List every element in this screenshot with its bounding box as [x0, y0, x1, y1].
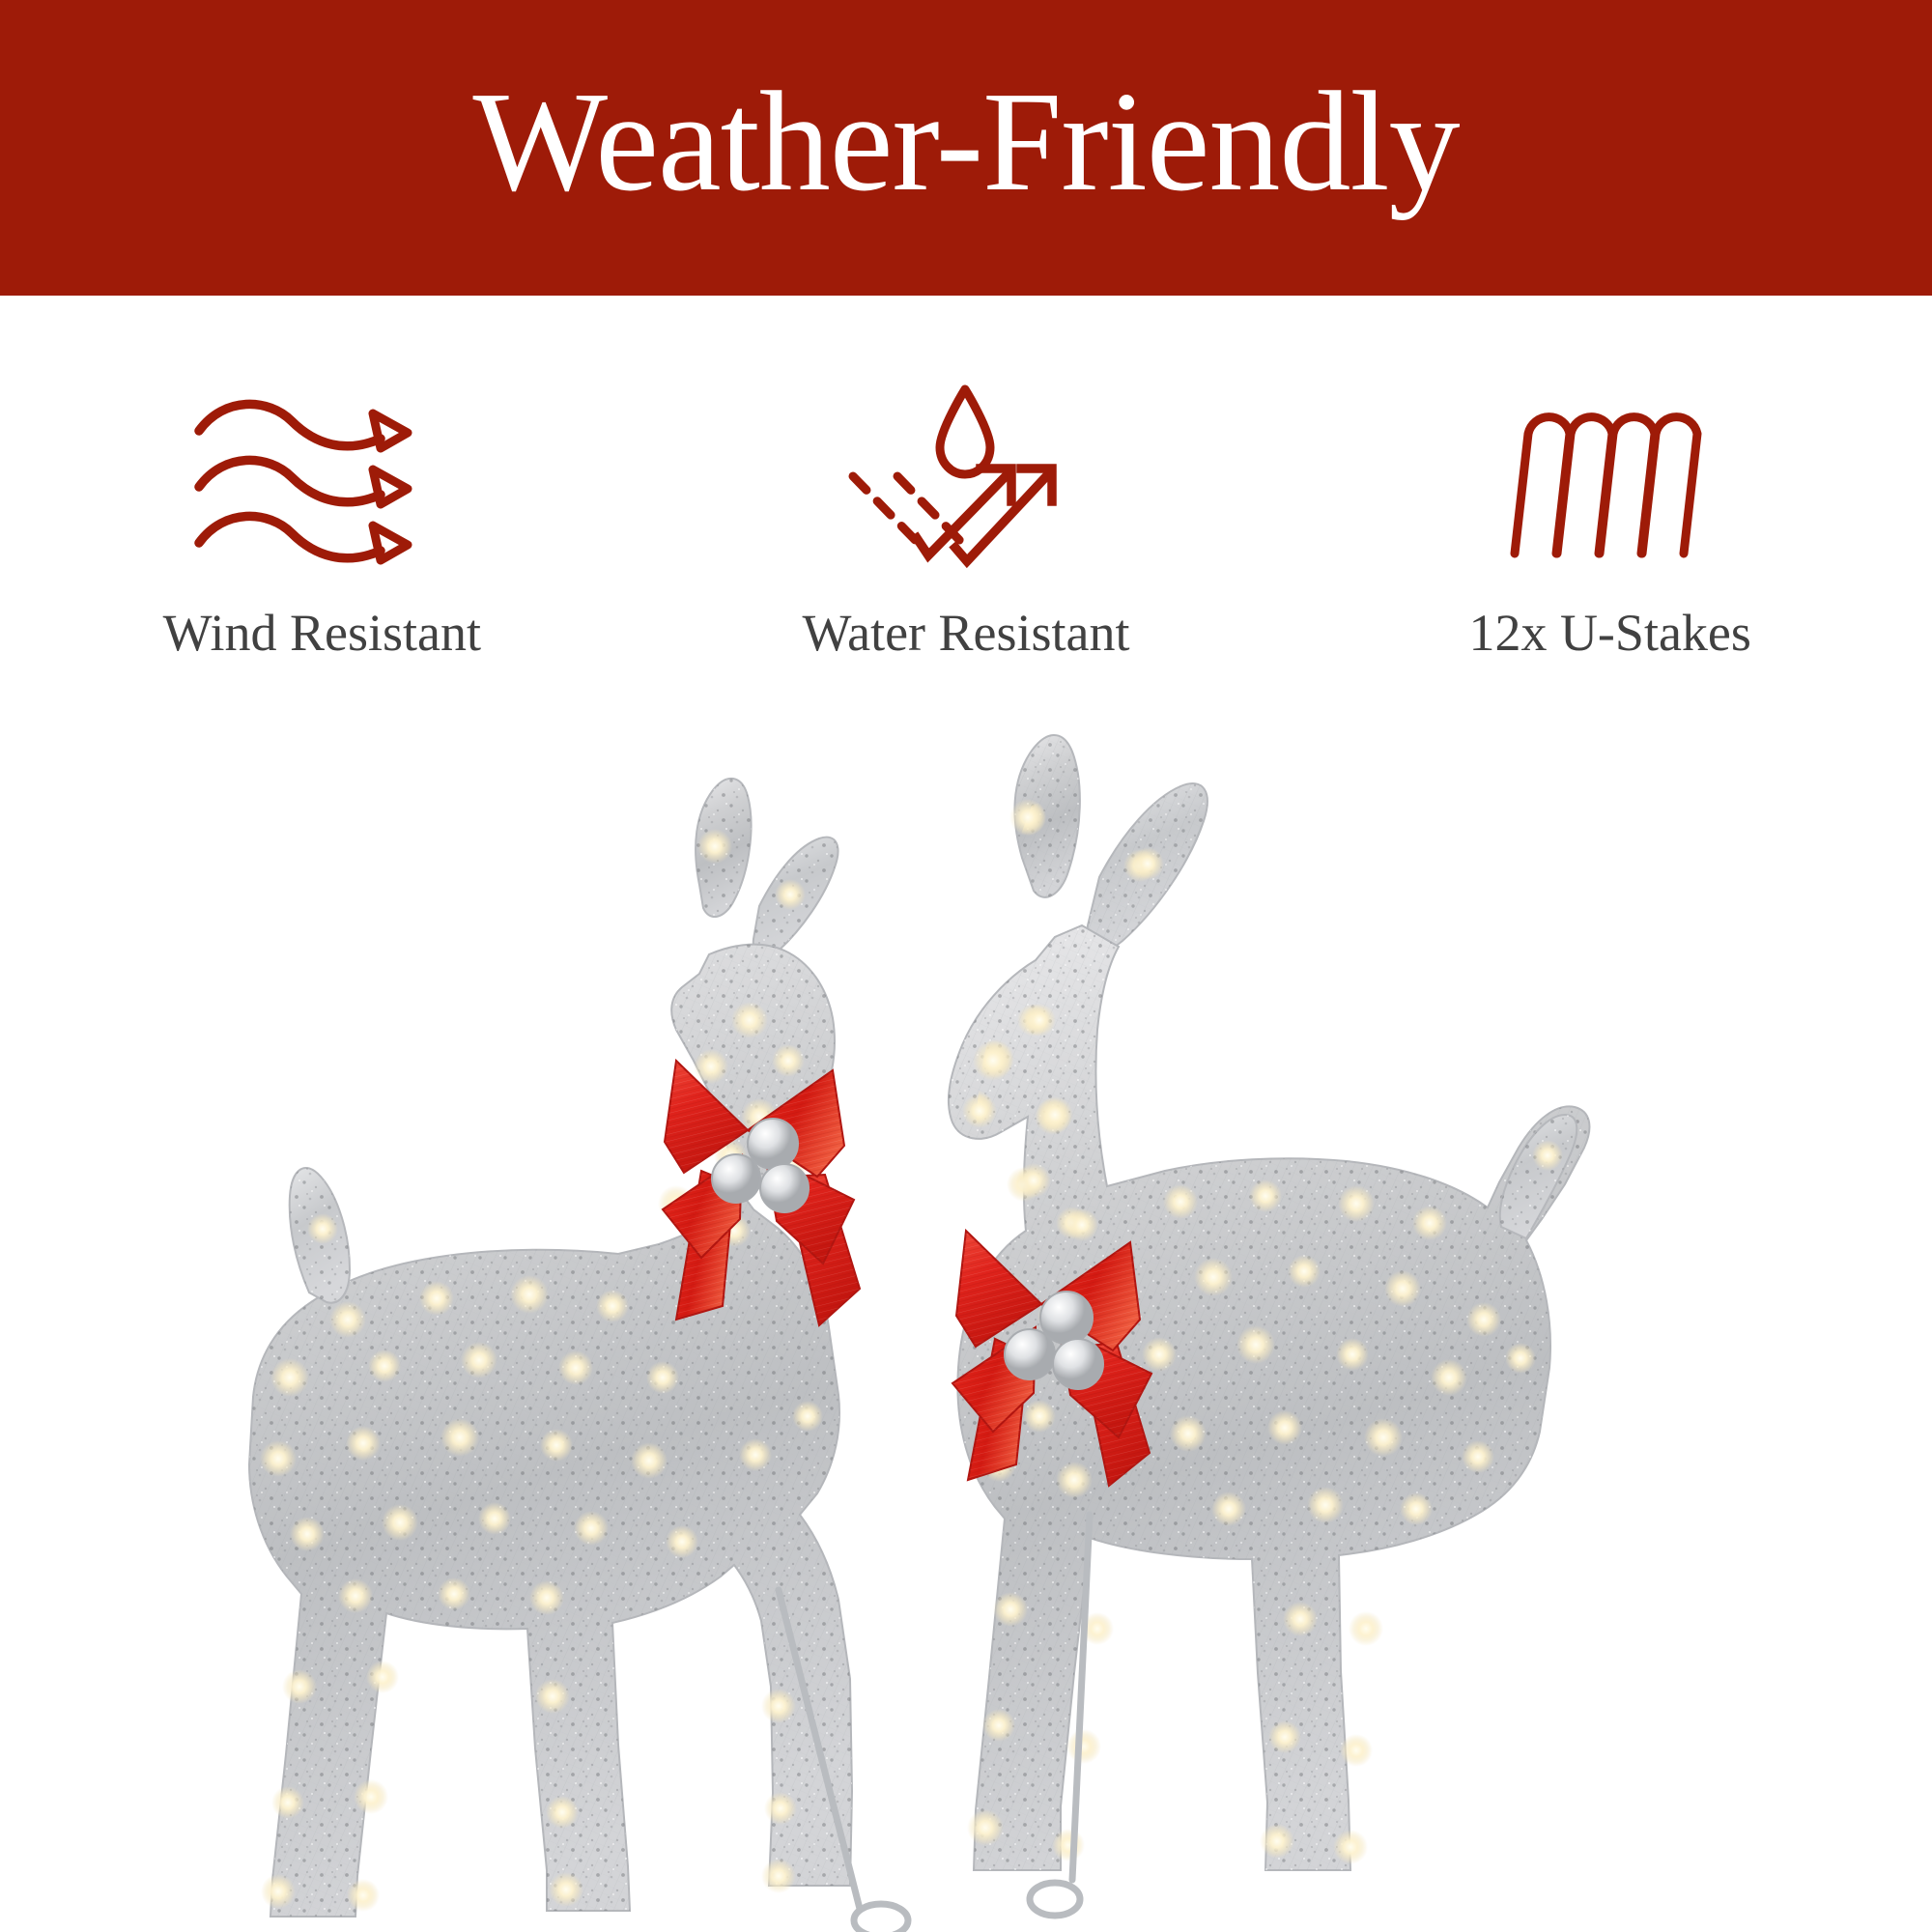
deer-illustration: [0, 701, 1932, 1932]
wind-lines-arrows-icon: [177, 379, 467, 572]
feature-label-stakes: 12x U-Stakes: [1468, 607, 1750, 659]
feature-water-resistant: Water Resistant: [644, 296, 1289, 701]
front-deer-fawn: [249, 779, 908, 1932]
feature-label-water: Water Resistant: [802, 607, 1129, 659]
page-title: Weather-Friendly: [472, 71, 1459, 213]
product-feature-graphic: Weather-Friendly Wi: [0, 0, 1932, 1932]
feature-row: Wind Resistant: [0, 296, 1932, 701]
water-droplet-repel-arrows-icon: [821, 379, 1111, 572]
feature-wind-resistant: Wind Resistant: [0, 296, 644, 701]
header-banner: Weather-Friendly: [0, 0, 1932, 296]
rear-deer-doe: [949, 735, 1590, 1916]
feature-label-wind: Wind Resistant: [163, 607, 481, 659]
u-stakes-icon: [1465, 379, 1755, 572]
feature-u-stakes: 12x U-Stakes: [1288, 296, 1932, 701]
product-photo: [0, 701, 1932, 1932]
